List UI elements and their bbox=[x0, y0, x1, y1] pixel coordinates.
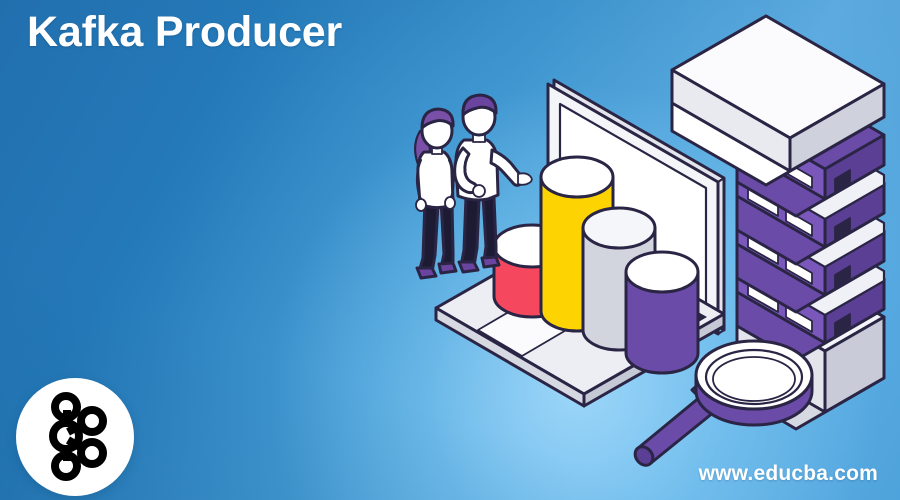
kafka-logo-icon bbox=[16, 378, 134, 496]
page-title: Kafka Producer bbox=[27, 8, 342, 57]
banner-canvas: Kafka Producer .ol { stroke:#2b2545; str… bbox=[0, 0, 900, 500]
apache-kafka-logo bbox=[16, 378, 134, 496]
person-female bbox=[415, 109, 456, 278]
illustration: .ol { stroke:#2b2545; stroke-width:3; st… bbox=[0, 0, 900, 500]
site-url: www.educba.com bbox=[699, 462, 878, 486]
bar-4-purple bbox=[626, 252, 698, 373]
